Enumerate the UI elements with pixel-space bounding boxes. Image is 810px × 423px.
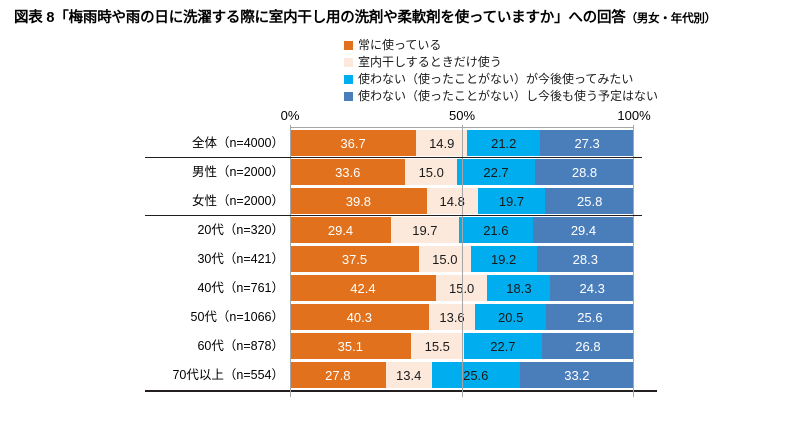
bar-segment-value: 22.7	[490, 339, 515, 354]
bar-segment[interactable]: 33.2	[520, 362, 634, 388]
bar-segment[interactable]: 26.8	[542, 333, 634, 359]
chart-bottom-rule	[145, 390, 657, 392]
bar-segment-value: 28.3	[573, 252, 598, 267]
bar-segment[interactable]: 37.5	[290, 246, 419, 272]
bar-segment-value: 15.0	[419, 165, 444, 180]
group-separator	[145, 157, 642, 158]
bar-segment-value: 29.4	[571, 223, 596, 238]
bar-segment-value: 18.3	[506, 281, 531, 296]
legend-swatch-icon	[344, 75, 353, 84]
bar-segment[interactable]: 21.6	[459, 217, 533, 243]
legend-item-label: 使わない（使ったことがない）し今後も使う予定はない	[358, 90, 658, 102]
x-axis-tick-label: 100%	[617, 108, 650, 123]
bar-row-label: 70代以上（n=554）	[172, 362, 290, 388]
bar-row-label: 30代（n=421）	[197, 246, 290, 272]
bar-segment[interactable]: 22.7	[464, 333, 542, 359]
bar-segment-value: 13.4	[396, 368, 421, 383]
bar-row-label: 50代（n=1066）	[191, 304, 290, 330]
bar-segment[interactable]: 14.8	[427, 188, 478, 214]
chart-legend: 常に使っている室内干しするときだけ使う使わない（使ったことがない）が今後使ってみ…	[344, 37, 658, 104]
gridline	[462, 125, 463, 397]
bar-segment[interactable]: 19.2	[471, 246, 537, 272]
bar-segment[interactable]: 15.5	[411, 333, 464, 359]
bar-segment-value: 19.7	[499, 194, 524, 209]
bar-segment-value: 19.2	[491, 252, 516, 267]
gridline	[290, 125, 291, 397]
bar-segment-value: 39.8	[346, 194, 371, 209]
bar-segment[interactable]: 28.3	[537, 246, 634, 272]
bar-segment[interactable]: 33.6	[290, 159, 405, 185]
gridline	[633, 125, 634, 397]
bar-segment[interactable]: 14.9	[416, 130, 467, 156]
bar-segment-value: 33.6	[335, 165, 360, 180]
legend-item-label: 使わない（使ったことがない）が今後使ってみたい	[358, 73, 633, 85]
bar-segment[interactable]: 42.4	[290, 275, 436, 301]
bar-segment[interactable]: 39.8	[290, 188, 427, 214]
bar-segment-value: 21.6	[483, 223, 508, 238]
bar-segment[interactable]: 27.3	[540, 130, 634, 156]
bar-segment[interactable]: 21.2	[467, 130, 540, 156]
legend-item: 室内干しするときだけ使う	[344, 54, 658, 70]
group-separator	[145, 215, 642, 216]
bar-segment[interactable]: 13.6	[429, 304, 476, 330]
legend-swatch-icon	[344, 92, 353, 101]
bar-segment[interactable]: 27.8	[290, 362, 386, 388]
legend-item: 常に使っている	[344, 37, 658, 53]
page-title-note: （男女・年代別）	[626, 13, 716, 25]
bar-segment-value: 22.7	[483, 165, 508, 180]
bar-segment[interactable]: 24.3	[550, 275, 634, 301]
bar-segment-value: 25.6	[463, 368, 488, 383]
bar-segment[interactable]: 29.4	[533, 217, 634, 243]
bar-segment[interactable]: 22.7	[457, 159, 535, 185]
bar-segment-value: 15.5	[425, 339, 450, 354]
bar-segment[interactable]: 29.4	[290, 217, 391, 243]
bar-segment-value: 28.8	[572, 165, 597, 180]
x-axis-tick-label: 0%	[281, 108, 300, 123]
bar-row-label: 20代（n=320）	[197, 217, 290, 243]
chart-area: 0%50%100% 全体（n=4000）36.714.921.227.3男性（n…	[0, 108, 810, 408]
bar-segment[interactable]: 19.7	[391, 217, 459, 243]
bar-row-label: 40代（n=761）	[197, 275, 290, 301]
legend-item: 使わない（使ったことがない）し今後も使う予定はない	[344, 88, 658, 104]
bar-segment[interactable]: 25.6	[432, 362, 520, 388]
bar-segment-value: 25.6	[577, 310, 602, 325]
bar-segment-value: 42.4	[350, 281, 375, 296]
bar-segment-value: 29.4	[328, 223, 353, 238]
bar-segment[interactable]: 13.4	[386, 362, 432, 388]
bar-segment[interactable]: 18.3	[487, 275, 550, 301]
bar-segment[interactable]: 40.3	[290, 304, 429, 330]
bar-segment-value: 36.7	[340, 136, 365, 151]
bar-segment-value: 25.8	[577, 194, 602, 209]
bar-segment[interactable]: 15.0	[405, 159, 457, 185]
bar-segment-value: 33.2	[564, 368, 589, 383]
bar-segment-value: 37.5	[342, 252, 367, 267]
legend-item: 使わない（使ったことがない）が今後使ってみたい	[344, 71, 658, 87]
bar-segment[interactable]: 36.7	[290, 130, 416, 156]
legend-swatch-icon	[344, 41, 353, 50]
bar-row-label: 全体（n=4000）	[192, 130, 290, 156]
legend-swatch-icon	[344, 58, 353, 67]
x-axis-tick-labels: 0%50%100%	[0, 108, 810, 126]
bar-row-label: 60代（n=878）	[197, 333, 290, 359]
bar-segment[interactable]: 20.5	[475, 304, 546, 330]
bar-segment-value: 26.8	[575, 339, 600, 354]
bar-segment[interactable]: 35.1	[290, 333, 411, 359]
page-title: 図表 8「梅雨時や雨の日に洗濯する際に室内干し用の洗剤や柔軟剤を使っていますか」…	[14, 6, 716, 27]
legend-item-label: 室内干しするときだけ使う	[358, 56, 502, 68]
bar-segment-value: 27.3	[574, 136, 599, 151]
bar-segment[interactable]: 28.8	[535, 159, 634, 185]
bar-segment-value: 27.8	[325, 368, 350, 383]
bar-segment[interactable]: 25.8	[545, 188, 634, 214]
page-title-main: 図表 8「梅雨時や雨の日に洗濯する際に室内干し用の洗剤や柔軟剤を使っていますか」…	[14, 10, 626, 26]
bar-segment-value: 13.6	[439, 310, 464, 325]
bar-segment-value: 35.1	[338, 339, 363, 354]
bar-segment-value: 24.3	[580, 281, 605, 296]
plot-region: 全体（n=4000）36.714.921.227.3男性（n=2000）33.6…	[290, 130, 634, 394]
bar-segment-value: 19.7	[412, 223, 437, 238]
bar-segment-value: 40.3	[347, 310, 372, 325]
bar-segment-value: 15.0	[432, 252, 457, 267]
bar-segment[interactable]: 25.6	[546, 304, 634, 330]
bar-row-label: 男性（n=2000）	[192, 159, 290, 185]
bar-segment-value: 14.9	[429, 136, 454, 151]
x-axis-tick-label: 50%	[449, 108, 475, 123]
bar-segment[interactable]: 19.7	[478, 188, 546, 214]
bar-row-label: 女性（n=2000）	[192, 188, 290, 214]
bar-segment-value: 21.2	[491, 136, 516, 151]
bar-segment-value: 20.5	[498, 310, 523, 325]
legend-item-label: 常に使っている	[358, 39, 441, 51]
